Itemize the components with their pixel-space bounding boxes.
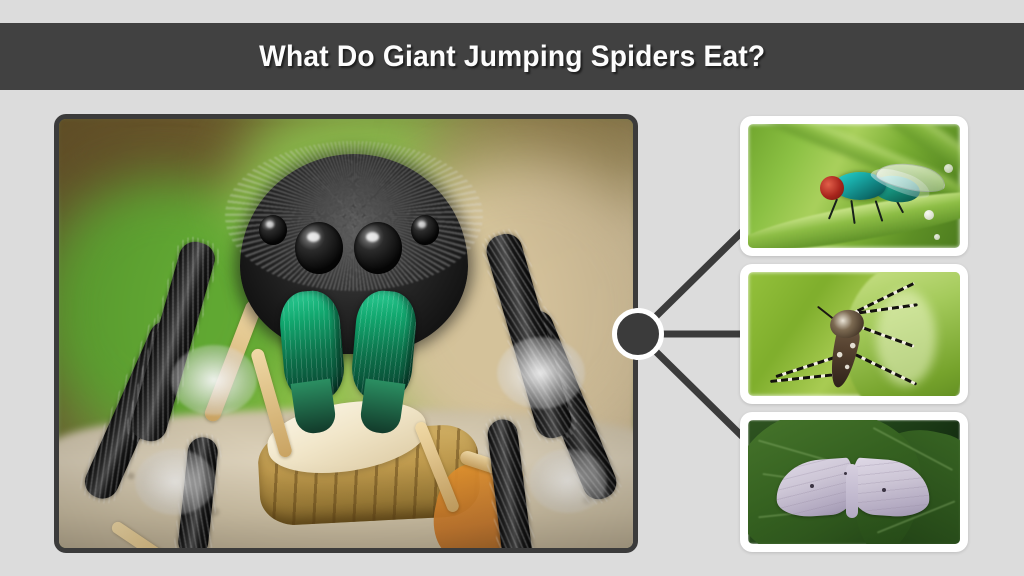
fly-head [820, 176, 844, 200]
dew-drop-2 [944, 164, 953, 173]
hero-image-frame [54, 114, 638, 553]
mosquito-thumbnail[interactable] [740, 264, 968, 404]
moth-thumbnail[interactable] [740, 412, 968, 552]
page-title: What Do Giant Jumping Spiders Eat? [259, 40, 765, 74]
spider-eye-lateral-left [259, 215, 287, 245]
header-bar: What Do Giant Jumping Spiders Eat? [0, 23, 1024, 90]
connector-hub-node [612, 308, 664, 360]
dew-drop-3 [934, 234, 940, 240]
spider-leg-tuft-left-lower [135, 449, 215, 515]
fly-thumbnail[interactable] [740, 116, 968, 256]
moth-head-dot [844, 472, 847, 475]
fly-photo [748, 124, 960, 248]
spider-leg-tuft-right [497, 337, 585, 409]
spider-head-fuzz [225, 141, 483, 291]
spider-eye-principal-right [354, 222, 402, 274]
spider-eye-highlight-4 [418, 221, 426, 228]
hero-image [59, 119, 633, 548]
spider-eye-highlight-3 [266, 221, 274, 228]
mosquito-photo [748, 272, 960, 396]
infographic-page: What Do Giant Jumping Spiders Eat? [0, 0, 1024, 576]
spider-eye-highlight-1 [307, 232, 320, 242]
spider-eye-highlight-2 [366, 232, 379, 242]
spider-eye-principal-left [295, 222, 343, 274]
moth-body [846, 464, 858, 518]
moth-photo [748, 420, 960, 544]
moth-wing-spot-right [882, 488, 886, 492]
spider-leg-tuft-left [171, 345, 257, 415]
spider-leg-tuft-right-lower [529, 449, 607, 513]
dew-drop-1 [924, 210, 934, 220]
moth-wing-spot-left [810, 484, 814, 488]
spider-eye-lateral-right [411, 215, 439, 245]
